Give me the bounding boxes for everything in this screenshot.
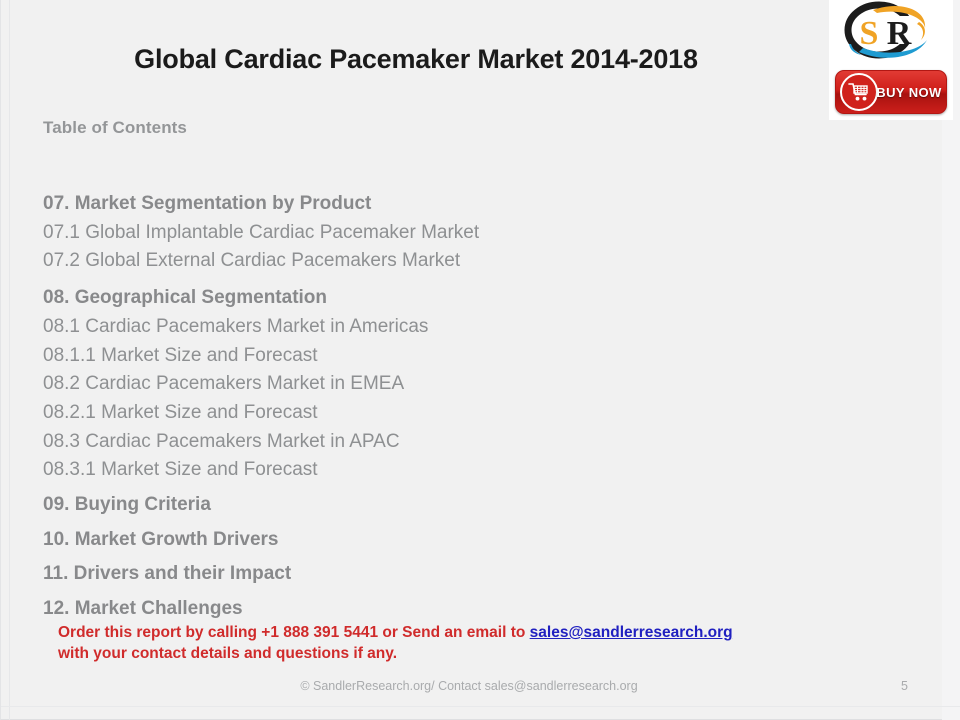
toc-item: 07.2 Global External Cardiac Pacemakers … — [43, 247, 743, 276]
brand-block: S R — [829, 0, 953, 120]
svg-text:S: S — [860, 15, 879, 52]
bottom-edge-rule — [1, 706, 960, 707]
order-line-1-text: Order this report by calling +1 888 391 … — [58, 624, 530, 641]
toc-item: 08.3 Cardiac Pacemakers Market in APAC — [43, 428, 743, 457]
toc-item: 07.1 Global Implantable Cardiac Pacemake… — [43, 219, 743, 248]
toc-item: 09. Buying Criteria — [43, 491, 743, 520]
table-of-contents-list: 07. Market Segmentation by Product 07.1 … — [43, 190, 743, 624]
sandler-research-logo-icon: S R — [829, 0, 953, 64]
order-line-2: with your contact details and questions … — [58, 643, 733, 664]
buy-now-button[interactable]: BUY NOW — [829, 64, 953, 120]
toc-item: 12. Market Challenges — [43, 595, 743, 624]
footer-copyright: © SandlerResearch.org/ Contact sales@san… — [1, 679, 960, 693]
left-edge-rule — [9, 0, 10, 720]
buy-now-pill[interactable]: BUY NOW — [835, 70, 947, 114]
toc-heading: Table of Contents — [43, 118, 187, 138]
toc-item: 08. Geographical Segmentation — [43, 284, 743, 313]
order-line-1: Order this report by calling +1 888 391 … — [58, 622, 733, 643]
toc-item: 08.2 Cardiac Pacemakers Market in EMEA — [43, 370, 743, 399]
order-call-to-action: Order this report by calling +1 888 391 … — [58, 622, 733, 664]
toc-item: 08.1.1 Market Size and Forecast — [43, 342, 743, 371]
toc-item: 08.3.1 Market Size and Forecast — [43, 456, 743, 485]
sales-email-link[interactable]: sales@sandlerresearch.org — [530, 624, 733, 641]
slide-title: Global Cardiac Pacemaker Market 2014-201… — [1, 44, 960, 75]
buy-now-label: BUY NOW — [876, 85, 942, 100]
toc-item: 10. Market Growth Drivers — [43, 526, 743, 555]
svg-text:R: R — [887, 15, 912, 52]
toc-item: 11. Drivers and their Impact — [43, 560, 743, 589]
presentation-slide: Global Cardiac Pacemaker Market 2014-201… — [0, 0, 960, 720]
toc-item: 08.1 Cardiac Pacemakers Market in Americ… — [43, 313, 743, 342]
page-number: 5 — [901, 679, 908, 693]
toc-item: 07. Market Segmentation by Product — [43, 190, 743, 219]
toc-item: 08.2.1 Market Size and Forecast — [43, 399, 743, 428]
shopping-cart-icon — [840, 73, 878, 111]
